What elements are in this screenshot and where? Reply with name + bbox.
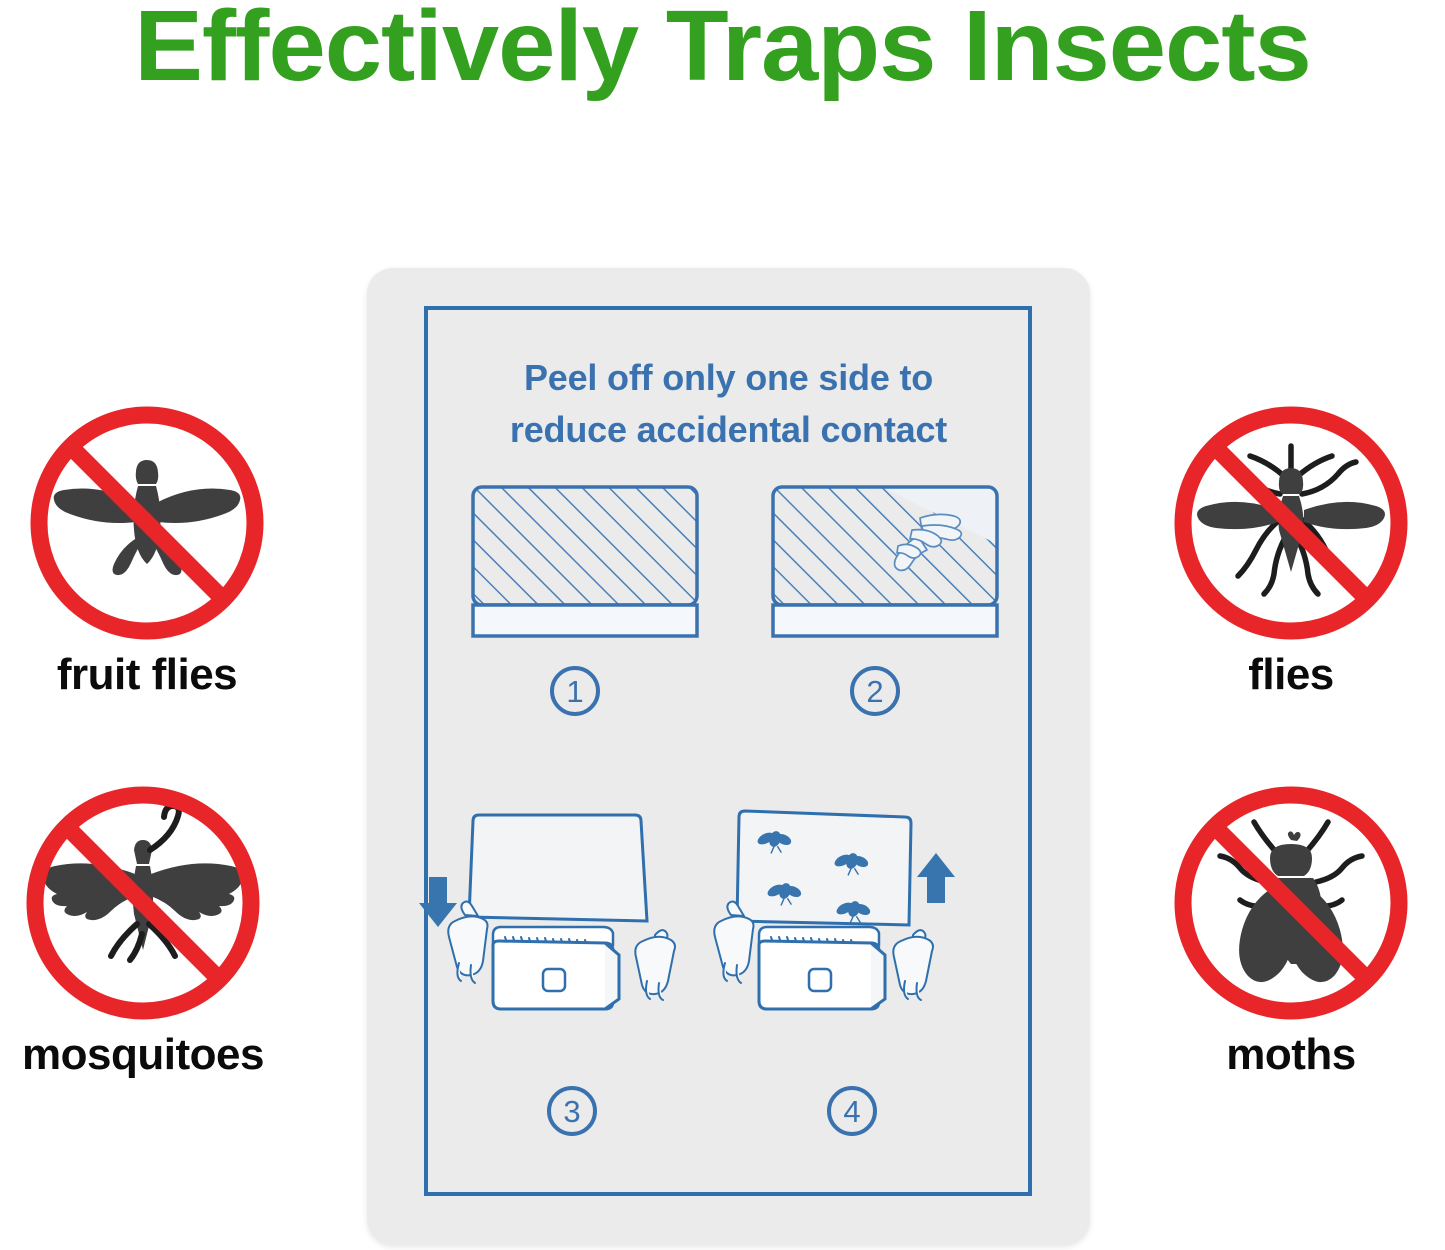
card-heading: Peel off only one side to reduce acciden… — [422, 352, 1035, 456]
badge-label: moths — [1156, 1030, 1426, 1080]
down-arrow-icon — [419, 877, 457, 927]
page-title: Effectively Traps Insects — [0, 0, 1445, 98]
step-1-number: 1 — [550, 666, 600, 716]
badge-fruit-flies: fruit flies — [12, 398, 282, 700]
insert-card-into-device-icon — [407, 803, 697, 1053]
card-heading-line-1: Peel off only one side to — [422, 352, 1035, 404]
housefly-silhouette-icon — [1166, 778, 1416, 1028]
step-2-illustration — [770, 484, 1000, 642]
fruit-fly-silhouette-icon — [22, 398, 272, 648]
badge-label: flies — [1156, 650, 1426, 700]
up-arrow-icon — [917, 853, 955, 903]
mosquito-silhouette-icon — [1166, 398, 1416, 648]
badge-label: mosquitoes — [8, 1030, 278, 1080]
step-4-number: 4 — [827, 1086, 877, 1136]
step-4-illustration — [697, 803, 987, 1053]
prohibition-sign — [1166, 778, 1416, 1028]
prohibition-sign — [1166, 398, 1416, 648]
step-2-number: 2 — [850, 666, 900, 716]
step-1-illustration — [470, 484, 700, 642]
prohibition-sign — [18, 778, 268, 1028]
hatched-refill-card-icon — [470, 484, 700, 642]
step-3-number: 3 — [547, 1086, 597, 1136]
badge-moths: moths — [1156, 778, 1426, 1080]
step-3-illustration — [407, 803, 697, 1053]
instruction-card: Peel off only one side to reduce acciden… — [367, 268, 1090, 1245]
badge-label: fruit flies — [12, 650, 282, 700]
badge-flies: flies — [1156, 398, 1426, 700]
badge-mosquitoes: mosquitoes — [8, 778, 278, 1080]
card-heading-line-2: reduce accidental contact — [422, 404, 1035, 456]
hand-peeling-backing-icon — [770, 484, 1000, 642]
remove-card-with-insects-icon — [697, 803, 987, 1053]
moth-silhouette-icon — [18, 778, 268, 1028]
prohibition-sign — [22, 398, 272, 648]
